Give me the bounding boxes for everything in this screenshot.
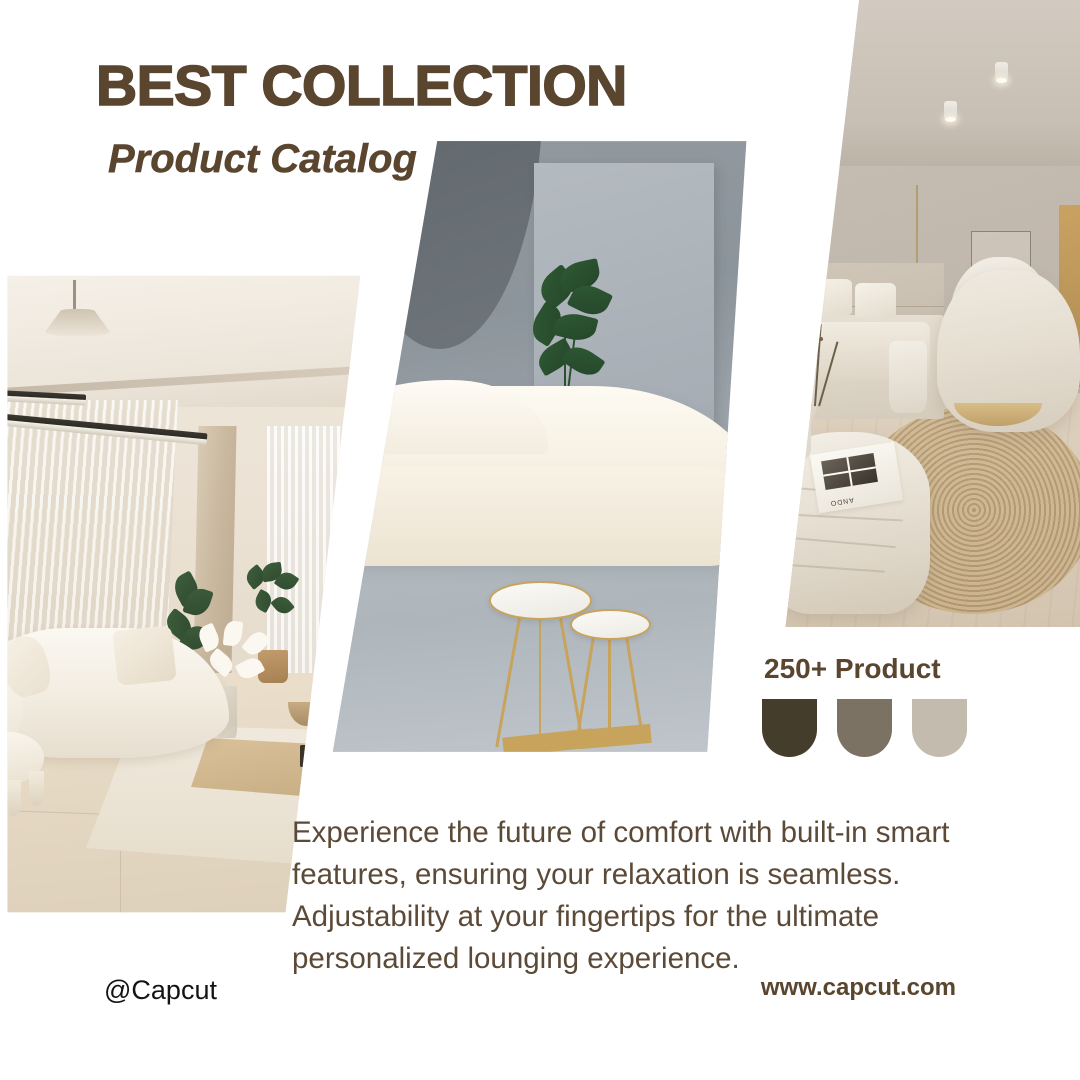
side-stool: [889, 341, 926, 413]
pendant-rod: [73, 280, 76, 313]
headline-block: BEST COLLECTION Product Catalog: [96, 58, 627, 179]
spotlight-icon-2: [995, 62, 1008, 81]
book-cover-art: [822, 454, 879, 491]
body-paragraph: Experience the future of comfort with bu…: [292, 812, 964, 980]
color-swatch-warm-taupe[interactable]: [837, 699, 892, 757]
social-handle: @Capcut: [104, 975, 217, 1006]
ceramic-vase: [784, 393, 811, 458]
bed-pillow-1: [767, 286, 808, 322]
poster-canvas: ANDO BEST COLLECTION Product Catalog 250…: [0, 0, 1080, 1080]
studio-sofa-photo: [300, 138, 750, 758]
color-swatch-dark-espresso[interactable]: [762, 699, 817, 757]
page-subtitle: Product Catalog: [108, 139, 627, 179]
bedroom-photo: ANDO: [760, 0, 1080, 640]
dark-cup: [300, 745, 317, 768]
color-swatch-light-greige[interactable]: [912, 699, 967, 757]
website-url[interactable]: www.capcut.com: [761, 974, 956, 1002]
color-swatch-row: [762, 699, 967, 757]
page-title: BEST COLLECTION: [96, 58, 627, 115]
book-title-label: ANDO: [829, 496, 854, 507]
sofa-seat-cushion: [300, 467, 746, 566]
concrete-ceiling: [760, 0, 1080, 166]
product-highlight-block: 250+ Product: [762, 653, 967, 757]
bed-pillow-2: [811, 279, 852, 315]
product-count-label: 250+ Product: [764, 653, 967, 685]
spotlight-icon-1: [944, 101, 957, 120]
dried-stems: [794, 315, 835, 406]
bed-pillow-3: [855, 283, 896, 319]
throw-pillow-right: [113, 625, 177, 686]
